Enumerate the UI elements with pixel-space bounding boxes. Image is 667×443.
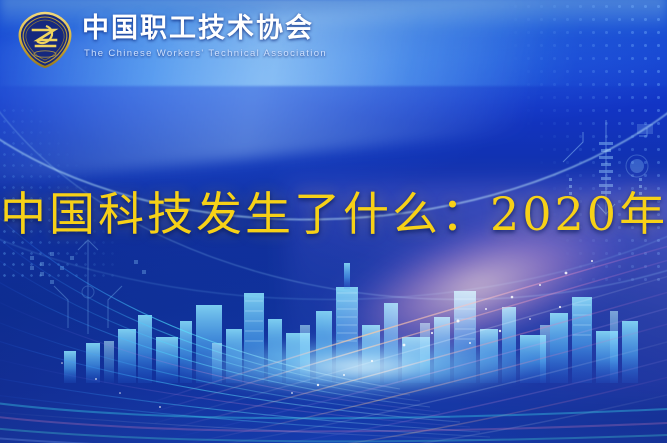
page-title: 中国科技发生了什么：2020年	[0, 178, 667, 244]
poster-banner: 中国职工技术协会 The Chinese Workers' Technical …	[0, 0, 667, 443]
org-identity: 中国职工技术协会 The Chinese Workers' Technical …	[82, 13, 327, 59]
org-name-en: The Chinese Workers' Technical Associati…	[84, 48, 327, 59]
cwta-shield-emblem-icon	[16, 10, 74, 70]
org-name-cn: 中国职工技术协会	[82, 13, 327, 44]
header: 中国职工技术协会 The Chinese Workers' Technical …	[0, 0, 667, 86]
